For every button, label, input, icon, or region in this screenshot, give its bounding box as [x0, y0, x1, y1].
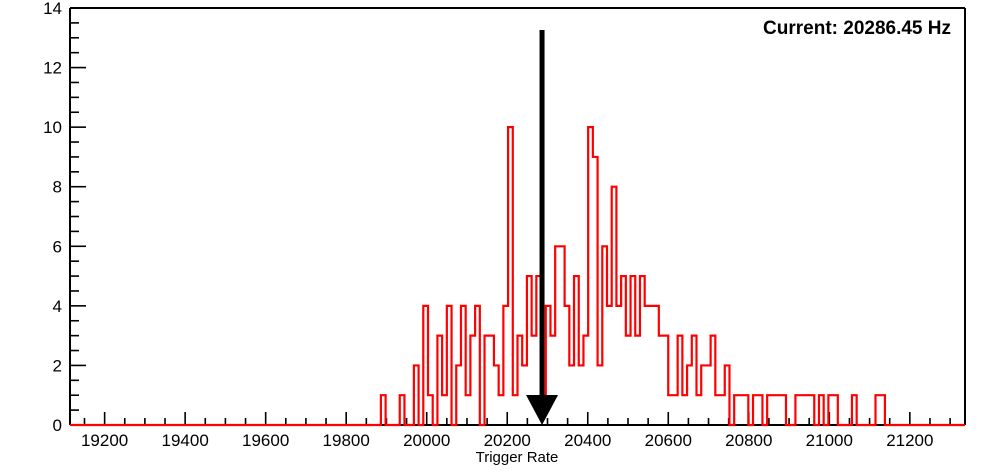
x-tick-label: 21000 — [806, 431, 853, 450]
trigger-rate-histogram: 02468101214 1920019400196001980020000202… — [0, 0, 996, 472]
x-tick-label: 19600 — [242, 431, 289, 450]
x-axis-ticks — [84, 412, 950, 425]
x-tick-label: 19400 — [162, 431, 209, 450]
y-tick-label: 8 — [53, 178, 62, 197]
y-axis-tick-labels: 02468101214 — [43, 0, 62, 435]
y-axis-ticks — [70, 8, 86, 425]
x-tick-label: 20600 — [645, 431, 692, 450]
x-tick-label: 19800 — [323, 431, 370, 450]
y-tick-label: 0 — [53, 416, 62, 435]
y-tick-label: 14 — [43, 0, 62, 18]
histogram-trace — [70, 127, 965, 425]
y-tick-label: 12 — [43, 59, 62, 78]
y-tick-label: 4 — [53, 297, 62, 316]
x-axis-title: Trigger Rate — [476, 449, 559, 466]
y-tick-label: 10 — [43, 118, 62, 137]
x-tick-label: 20000 — [403, 431, 450, 450]
x-tick-label: 20800 — [725, 431, 772, 450]
current-value-arrow-marker — [526, 30, 558, 425]
current-value-label: Current: 20286.45 Hz — [763, 18, 951, 39]
x-axis-tick-labels: 1920019400196001980020000202002040020600… — [81, 431, 933, 450]
x-tick-label: 20200 — [484, 431, 531, 450]
x-tick-label: 19200 — [81, 431, 128, 450]
x-tick-label: 20400 — [564, 431, 611, 450]
y-tick-label: 6 — [53, 237, 62, 256]
x-tick-label: 21200 — [886, 431, 933, 450]
root-histogram-canvas: 02468101214 1920019400196001980020000202… — [0, 0, 996, 472]
y-tick-label: 2 — [53, 356, 62, 375]
